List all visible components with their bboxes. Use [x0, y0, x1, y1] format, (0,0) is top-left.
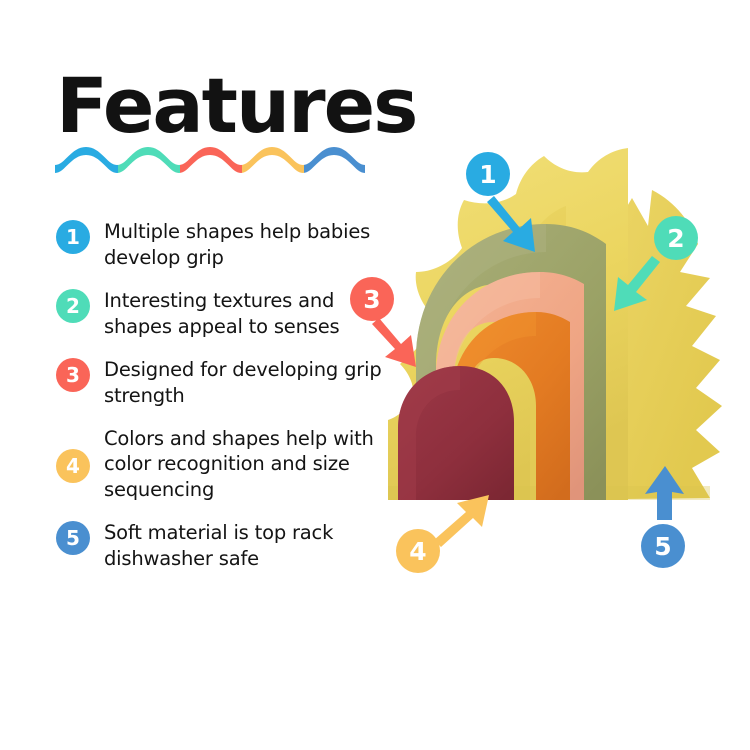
feature-text-5: Soft material is top rack dishwasher saf… [104, 519, 396, 572]
feature-badge-3: 3 [56, 358, 90, 392]
infographic-canvas: Features 1 Multiple shapes help babies d… [0, 0, 750, 750]
feature-text-3: Designed for developing grip strength [104, 356, 396, 409]
callout-badge-3: 3 [350, 277, 394, 321]
feature-badge-2: 2 [56, 289, 90, 323]
feature-text-1: Multiple shapes help babies develop grip [104, 218, 396, 271]
callout-badge-5: 5 [641, 524, 685, 568]
callout-badge-1: 1 [466, 152, 510, 196]
product-burgundy-arch [398, 366, 514, 500]
feature-badge-4: 4 [56, 449, 90, 483]
feature-text-4: Colors and shapes help with color recogn… [104, 425, 396, 504]
feature-item-5: 5 Soft material is top rack dishwasher s… [56, 519, 396, 572]
feature-item-2: 2 Interesting textures and shapes appeal… [56, 287, 396, 340]
feature-item-4: 4 Colors and shapes help with color reco… [56, 425, 396, 504]
feature-badge-5: 5 [56, 521, 90, 555]
callout-badge-2: 2 [654, 216, 698, 260]
page-title: Features [56, 68, 416, 144]
callout-badge-4: 4 [396, 529, 440, 573]
feature-item-3: 3 Designed for developing grip strength [56, 356, 396, 409]
feature-badge-1: 1 [56, 220, 90, 254]
feature-item-1: 1 Multiple shapes help babies develop gr… [56, 218, 396, 271]
feature-list: 1 Multiple shapes help babies develop gr… [56, 218, 396, 588]
title-underline-wave [55, 139, 367, 175]
product-image-rainbow-stacker [380, 120, 740, 590]
